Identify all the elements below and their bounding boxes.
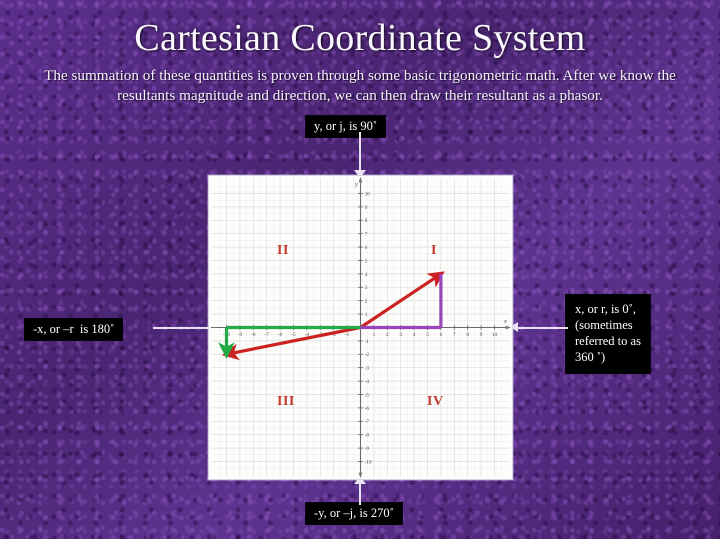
slide-canvas: Cartesian Coordinate System The summatio… [0,0,720,539]
svg-text:10: 10 [365,191,371,197]
svg-text:8: 8 [365,218,368,224]
svg-text:5: 5 [365,258,368,264]
svg-text:-4: -4 [365,379,370,385]
quadrant-label-4: IV [427,394,444,410]
svg-text:5: 5 [426,332,429,338]
svg-text:9: 9 [480,332,483,338]
svg-text:1: 1 [373,332,376,338]
svg-text:-10: -10 [365,459,372,465]
svg-text:-7: -7 [365,419,370,425]
callout-y-axis-270: -y, or –j, is 270˚ [306,503,402,524]
y-axis-label: y [354,181,358,188]
svg-text:-2: -2 [365,352,370,358]
svg-text:-5: -5 [291,332,296,338]
svg-text:3: 3 [365,285,368,291]
svg-text:9: 9 [365,205,368,211]
quadrant-label-2: II [277,243,289,259]
callout-x-axis-0: x, or r, is 0˚, (sometimes referred to a… [566,295,650,373]
svg-text:7: 7 [453,332,456,338]
svg-text:4: 4 [413,332,416,338]
connector-line-left [153,327,215,329]
quadrant-label-3: III [277,394,295,410]
callout-x-axis-180: -x, or –r is 180˚ [25,319,122,340]
x-axis-label: x [503,318,507,325]
slide-subtitle: The summation of these quantities is pro… [16,66,704,106]
svg-text:2: 2 [365,299,368,305]
svg-text:8: 8 [466,332,469,338]
svg-text:6: 6 [440,332,443,338]
connector-line-top [359,132,361,174]
page-title: Cartesian Coordinate System [0,16,720,60]
svg-text:-8: -8 [251,332,256,338]
svg-text:2: 2 [386,332,389,338]
svg-text:-8: -8 [365,433,370,439]
callout-y-axis-90: y, or j, is 90˚ [306,116,385,137]
svg-text:3: 3 [399,332,402,338]
cartesian-plot: -10-9-8-7-6-5-4-3-2-112345678910-10-9-8-… [208,175,513,480]
svg-text:-6: -6 [365,406,370,412]
svg-text:-9: -9 [365,446,370,452]
svg-text:6: 6 [365,245,368,251]
svg-text:-7: -7 [265,332,270,338]
svg-text:-1: -1 [365,339,370,345]
svg-text:1: 1 [365,312,368,318]
svg-text:7: 7 [365,232,368,238]
svg-text:-9: -9 [238,332,243,338]
svg-text:-1: -1 [345,332,350,338]
plot-svg: -10-9-8-7-6-5-4-3-2-112345678910-10-9-8-… [209,176,512,479]
svg-text:-6: -6 [278,332,283,338]
quadrant-label-1: I [431,243,437,259]
svg-text:-3: -3 [365,366,370,372]
connector-line-bottom [359,481,361,505]
svg-text:-5: -5 [365,392,370,398]
svg-text:10: 10 [492,332,498,338]
svg-text:4: 4 [365,272,368,278]
connector-line-right [518,327,568,329]
